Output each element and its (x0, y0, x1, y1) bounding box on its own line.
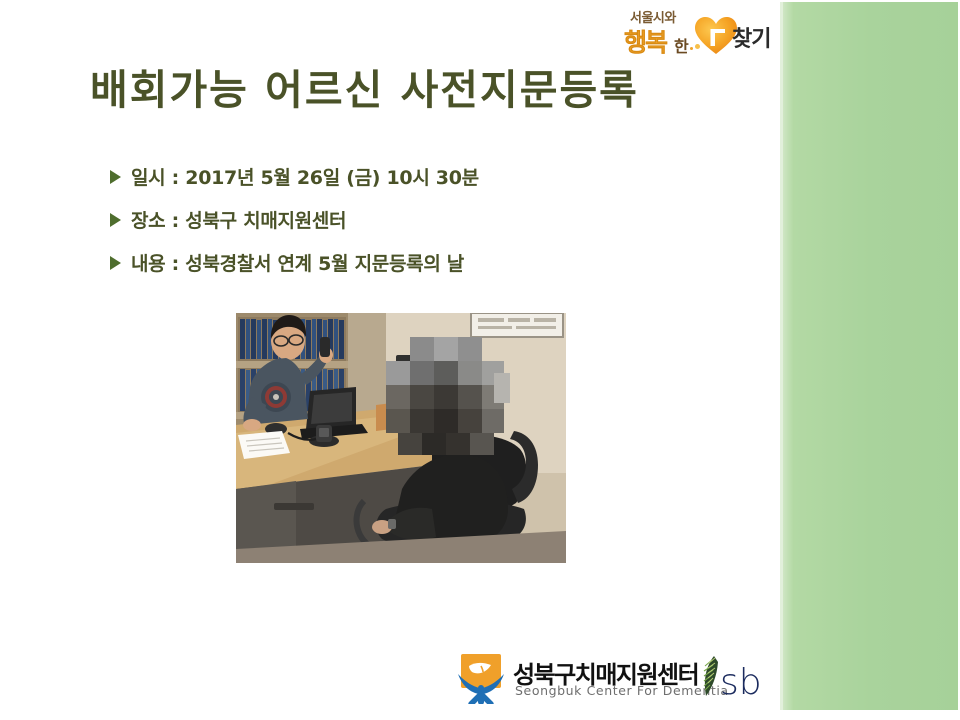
list-item-label: 일시 : 2017년 5월 26일 (금) 10시 30분 (131, 163, 479, 190)
fingerprint-registration-photo (236, 313, 566, 563)
brand-logo-han-text: 한 (674, 33, 688, 57)
bullet-list: 일시 : 2017년 5월 26일 (금) 10시 30분 장소 : 성북구 치… (110, 155, 730, 284)
sb-brand-mark-icon: sb (700, 652, 766, 704)
triangle-right-icon (110, 170, 121, 184)
brand-logo-find-text: 찾기 (732, 21, 770, 53)
organization-logo: 성북구치매지원센터 Seongbuk Center For Dementia (455, 650, 765, 710)
list-item: 장소 : 성북구 치매지원센터 (110, 198, 730, 241)
page-title: 배회가능 어르신 사전지문등록 (90, 68, 730, 113)
organization-name-english: Seongbuk Center For Dementia (515, 683, 729, 698)
triangle-right-icon (110, 213, 121, 227)
seoul-happy-finder-logo: 서울시와 행복 한 찾기 (622, 6, 782, 62)
brand-logo-happy-text: 행복 (624, 23, 666, 59)
presentation-slide: 咏 서울시와 행복 한 찾기 (0, 0, 960, 720)
list-item: 내용 : 성북경찰서 연계 5월 지문등록의 날 (110, 241, 730, 284)
list-item-label: 장소 : 성북구 치매지원센터 (131, 206, 346, 233)
right-decorative-panel: 咏 (783, 2, 958, 710)
list-item: 일시 : 2017년 5월 26일 (금) 10시 30분 (110, 155, 730, 198)
triangle-right-icon (110, 256, 121, 270)
list-item-label: 내용 : 성북경찰서 연계 5월 지문등록의 날 (131, 249, 464, 276)
seongbuk-dementia-center-mark-icon (455, 652, 507, 704)
sb-wordmark-text: sb (720, 662, 762, 703)
